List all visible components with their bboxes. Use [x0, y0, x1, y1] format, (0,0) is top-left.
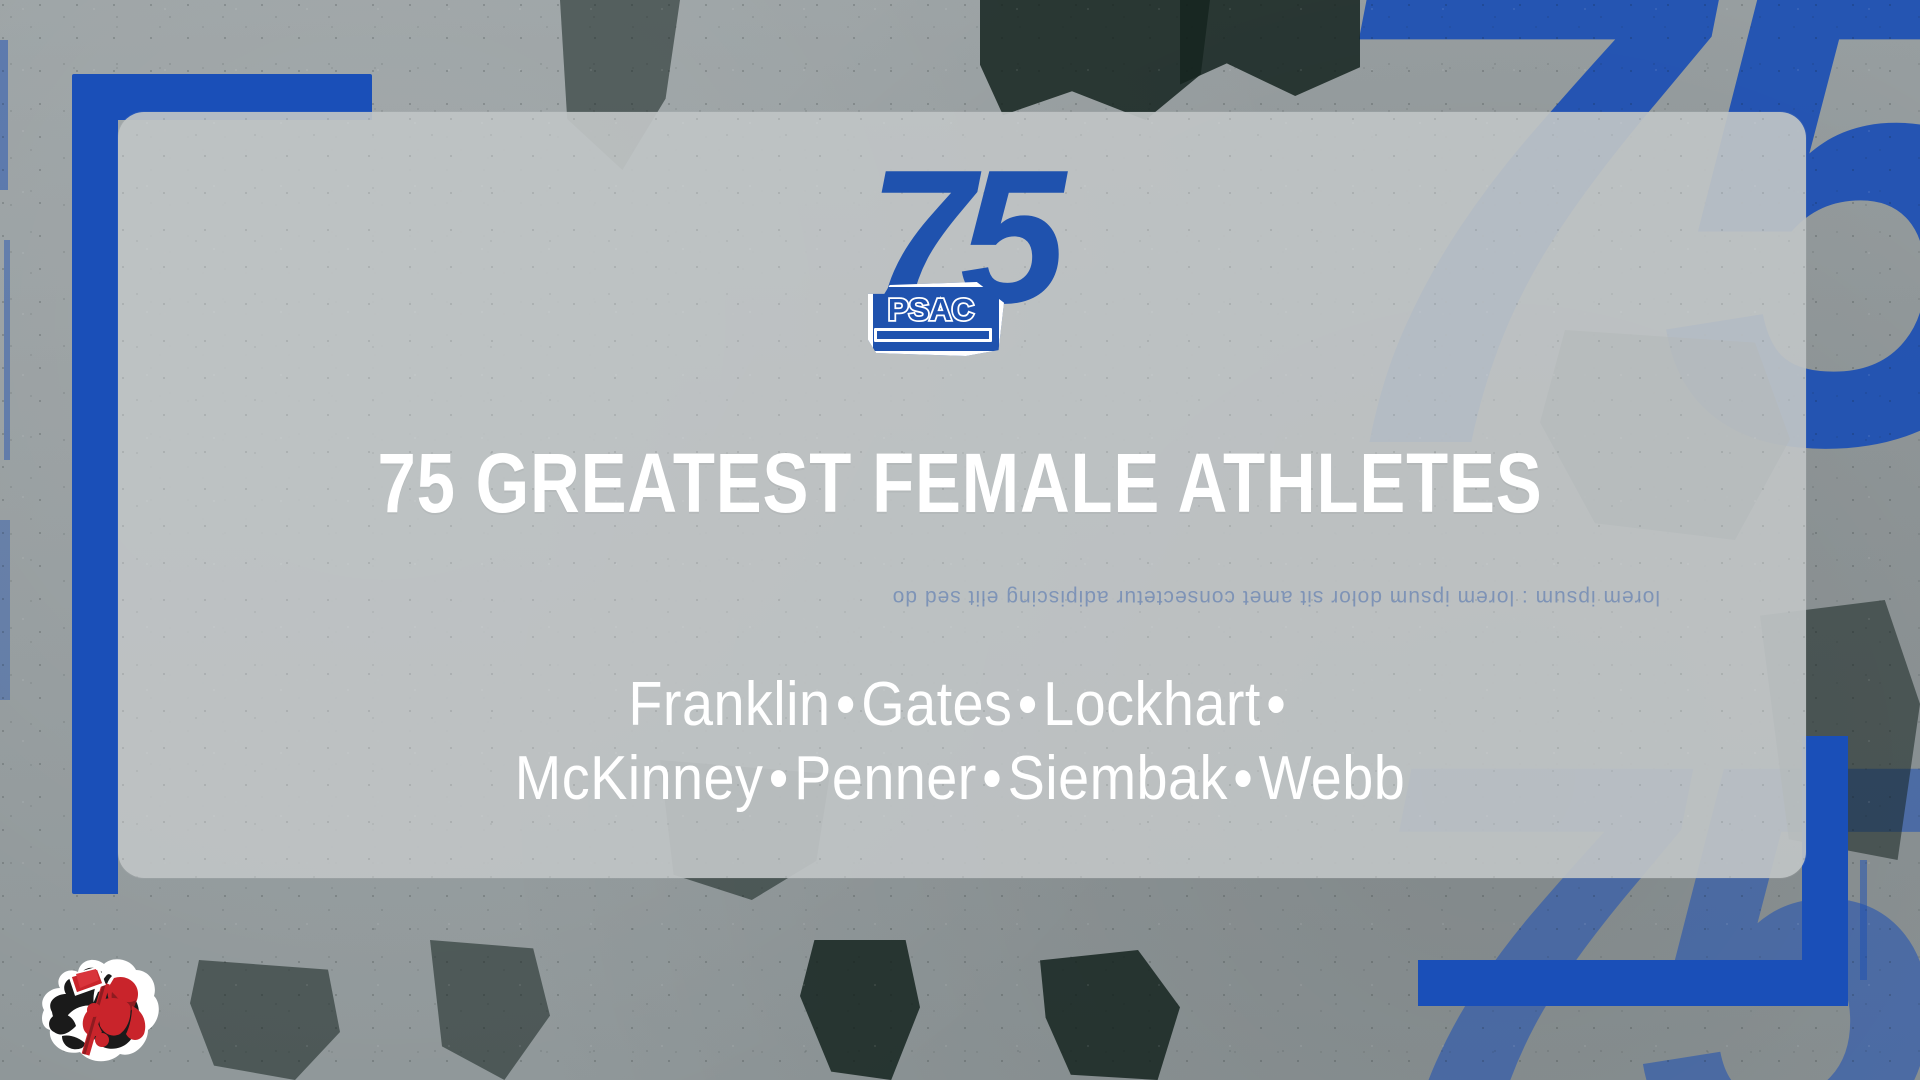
psac-wordmark: PSAC: [874, 294, 988, 325]
name-separator-icon: •: [1012, 670, 1043, 739]
honoree-name: Webb: [1259, 744, 1406, 813]
graphic-canvas: 75 75 75 PSAC 75 GREATEST FEMALE ATHLETE…: [0, 0, 1920, 1080]
psac-75-logo: 75 PSAC: [830, 178, 1090, 368]
honoree-name: McKinney: [515, 744, 764, 813]
psac-underbar: [874, 328, 992, 342]
honoree-name: Lockhart: [1043, 670, 1261, 739]
page-title: 75 GREATEST FEMALE ATHLETES: [173, 440, 1747, 526]
honoree-names-line-2: McKinney•Penner•Siembak•Webb: [96, 742, 1824, 816]
name-separator-icon: •: [977, 744, 1008, 813]
name-separator-icon: •: [1261, 670, 1292, 739]
vulcan-mascot-icon: [36, 948, 176, 1068]
honoree-names: Franklin•Gates•Lockhart• McKinney•Penner…: [96, 668, 1824, 816]
honoree-name: Gates: [861, 670, 1012, 739]
honoree-name: Siembak: [1008, 744, 1228, 813]
name-separator-icon: •: [763, 744, 794, 813]
name-separator-icon: •: [830, 670, 861, 739]
name-separator-icon: •: [1228, 744, 1259, 813]
honoree-name: Franklin: [628, 670, 830, 739]
honoree-names-line-1: Franklin•Gates•Lockhart•: [96, 668, 1824, 742]
ghost-grunge-text: lorem ipsum : lorem ipsum dolor sit amet…: [300, 585, 1660, 609]
honoree-name: Penner: [794, 744, 977, 813]
